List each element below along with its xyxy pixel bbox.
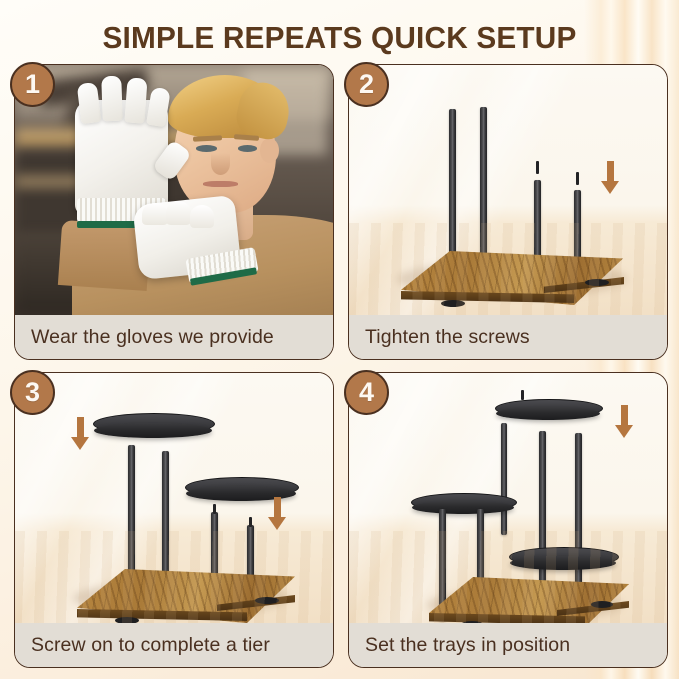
step-1-illustration xyxy=(15,65,333,315)
glove-knuckle xyxy=(166,201,191,225)
person-eye xyxy=(196,145,217,152)
wood-base-edge xyxy=(557,601,629,616)
person-nose xyxy=(211,153,230,176)
person-mouth xyxy=(203,181,238,187)
down-arrow-icon xyxy=(615,405,633,439)
step-badge-1: 1 xyxy=(10,62,55,107)
step-card-3: Screw on to complete a tier xyxy=(14,372,334,668)
glove-knuckle xyxy=(190,205,214,228)
drop-shadow xyxy=(73,581,288,615)
step-2-caption: Tighten the screws xyxy=(349,315,667,359)
base-foot-pad xyxy=(591,601,613,608)
metal-pole-short xyxy=(211,512,218,592)
round-tray-right xyxy=(509,547,619,567)
step-badge-3: 3 xyxy=(10,370,55,415)
metal-pole-tall xyxy=(162,451,169,597)
step-badge-4: 4 xyxy=(344,370,389,415)
product-scene-4 xyxy=(349,373,667,623)
drop-shadow xyxy=(427,589,622,621)
round-tray-top-rim xyxy=(496,407,600,420)
page-title: SIMPLE REPEATS QUICK SETUP xyxy=(14,20,666,56)
screw-tip xyxy=(576,172,579,185)
step-badge-2: 2 xyxy=(344,62,389,107)
glove-finger xyxy=(125,77,148,123)
drop-shadow xyxy=(397,261,627,297)
step-1-caption: Wear the gloves we provide xyxy=(15,315,333,359)
metal-pole-tall xyxy=(128,445,135,575)
step-card-1: Wear the gloves we provide xyxy=(14,64,334,360)
step-card-4: Set the trays in position xyxy=(348,372,668,668)
metal-pole-upper xyxy=(575,433,582,615)
glove-knuckle xyxy=(142,203,167,226)
metal-pole-tall xyxy=(480,107,487,297)
down-arrow-icon xyxy=(268,497,286,531)
glove-finger xyxy=(102,76,124,122)
metal-pole-left xyxy=(439,509,446,621)
wood-base-edge xyxy=(77,609,295,621)
step-2-illustration xyxy=(349,65,667,315)
base-foot-pad xyxy=(585,279,609,286)
wood-base-board xyxy=(401,251,623,305)
product-scene-3 xyxy=(15,373,333,623)
round-tray-left-rim xyxy=(412,501,514,514)
step-3-caption: Screw on to complete a tier xyxy=(15,623,333,667)
wood-base-edge xyxy=(217,595,295,611)
base-foot-pad xyxy=(255,597,279,604)
metal-pole-left xyxy=(477,509,484,607)
person-ear xyxy=(260,138,279,163)
person-eye xyxy=(238,145,257,152)
round-tray-right-rim xyxy=(510,556,616,570)
step-3-illustration xyxy=(15,373,333,623)
round-tray-upper-rim xyxy=(94,423,212,438)
wood-base-edge xyxy=(401,291,623,303)
step-card-2: Tighten the screws xyxy=(348,64,668,360)
metal-pole-upper xyxy=(501,423,507,535)
metal-pole-tall xyxy=(449,109,456,275)
screw-tip xyxy=(249,517,252,527)
glove-finger xyxy=(76,81,100,123)
infographic-page: SIMPLE REPEATS QUICK SETUP xyxy=(0,0,679,679)
metal-pole-short xyxy=(574,190,581,290)
wood-base-board xyxy=(77,569,295,623)
wood-base-board xyxy=(429,577,629,623)
wood-base-edge xyxy=(544,277,624,293)
metal-pole-upper xyxy=(539,431,546,591)
screw-tip xyxy=(213,504,216,514)
down-arrow-icon xyxy=(71,417,89,451)
wood-base-edge xyxy=(429,613,629,623)
product-scene-2 xyxy=(349,65,667,315)
workshop-photo xyxy=(15,65,333,315)
screw-tip xyxy=(521,390,524,400)
step-4-illustration xyxy=(349,373,667,623)
down-arrow-icon xyxy=(601,161,619,195)
step-4-caption: Set the trays in position xyxy=(349,623,667,667)
metal-pole-short xyxy=(247,525,254,611)
base-foot-pad xyxy=(441,300,465,307)
screw-tip xyxy=(536,161,539,174)
metal-pole-short xyxy=(534,180,541,275)
